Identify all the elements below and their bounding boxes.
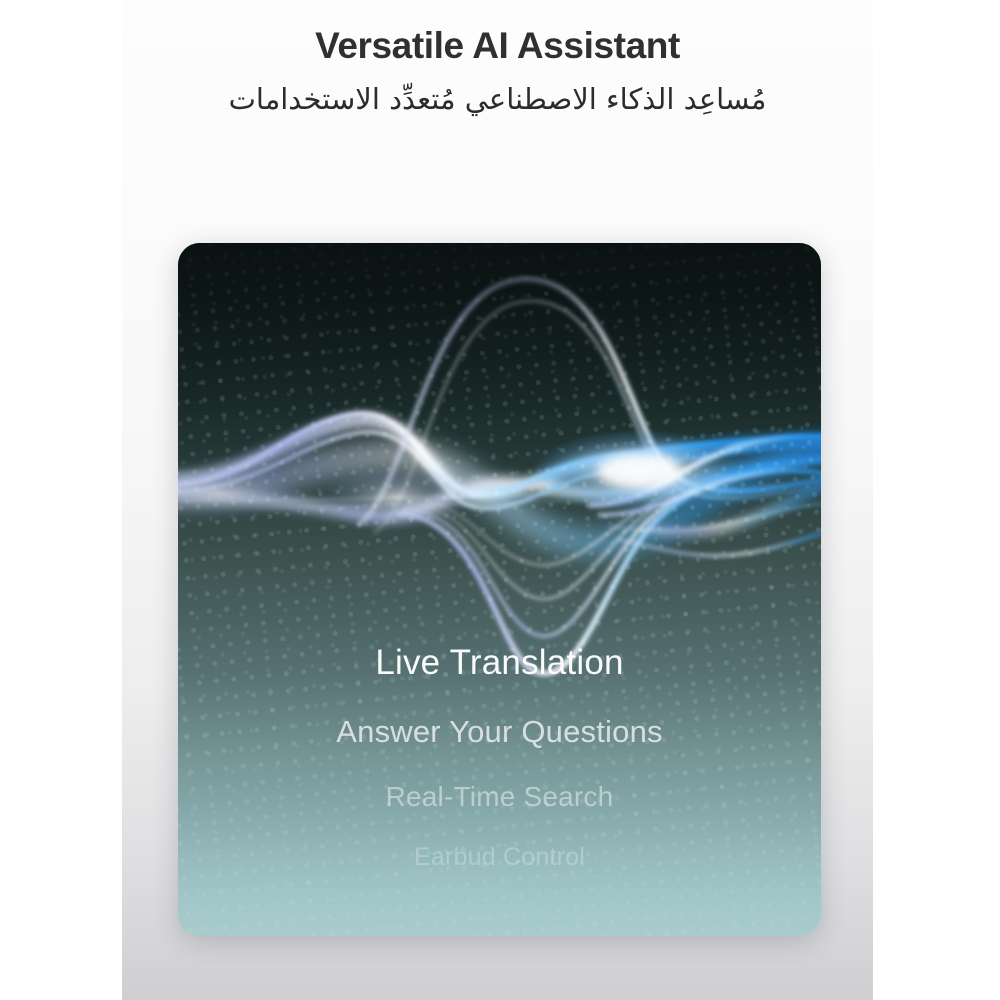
page-title-english: Versatile AI Assistant: [122, 24, 873, 68]
product-feature-page: Versatile AI Assistant مُساعِد الذكاء ال…: [0, 0, 1000, 1000]
hero-image-card: Live Translation Answer Your Questions R…: [178, 243, 821, 936]
feature-item-real-time-search: Real-Time Search: [178, 781, 821, 813]
feature-list: Live Translation Answer Your Questions R…: [178, 643, 821, 872]
feature-item-answer-your-questions: Answer Your Questions: [178, 714, 821, 750]
heading-block: Versatile AI Assistant مُساعِد الذكاء ال…: [122, 24, 873, 121]
page-title-arabic: مُساعِد الذكاء الاصطناعي مُتعدِّد الاستخ…: [228, 78, 768, 122]
feature-item-earbud-control: Earbud Control: [178, 843, 821, 872]
feature-item-live-translation: Live Translation: [178, 643, 821, 683]
